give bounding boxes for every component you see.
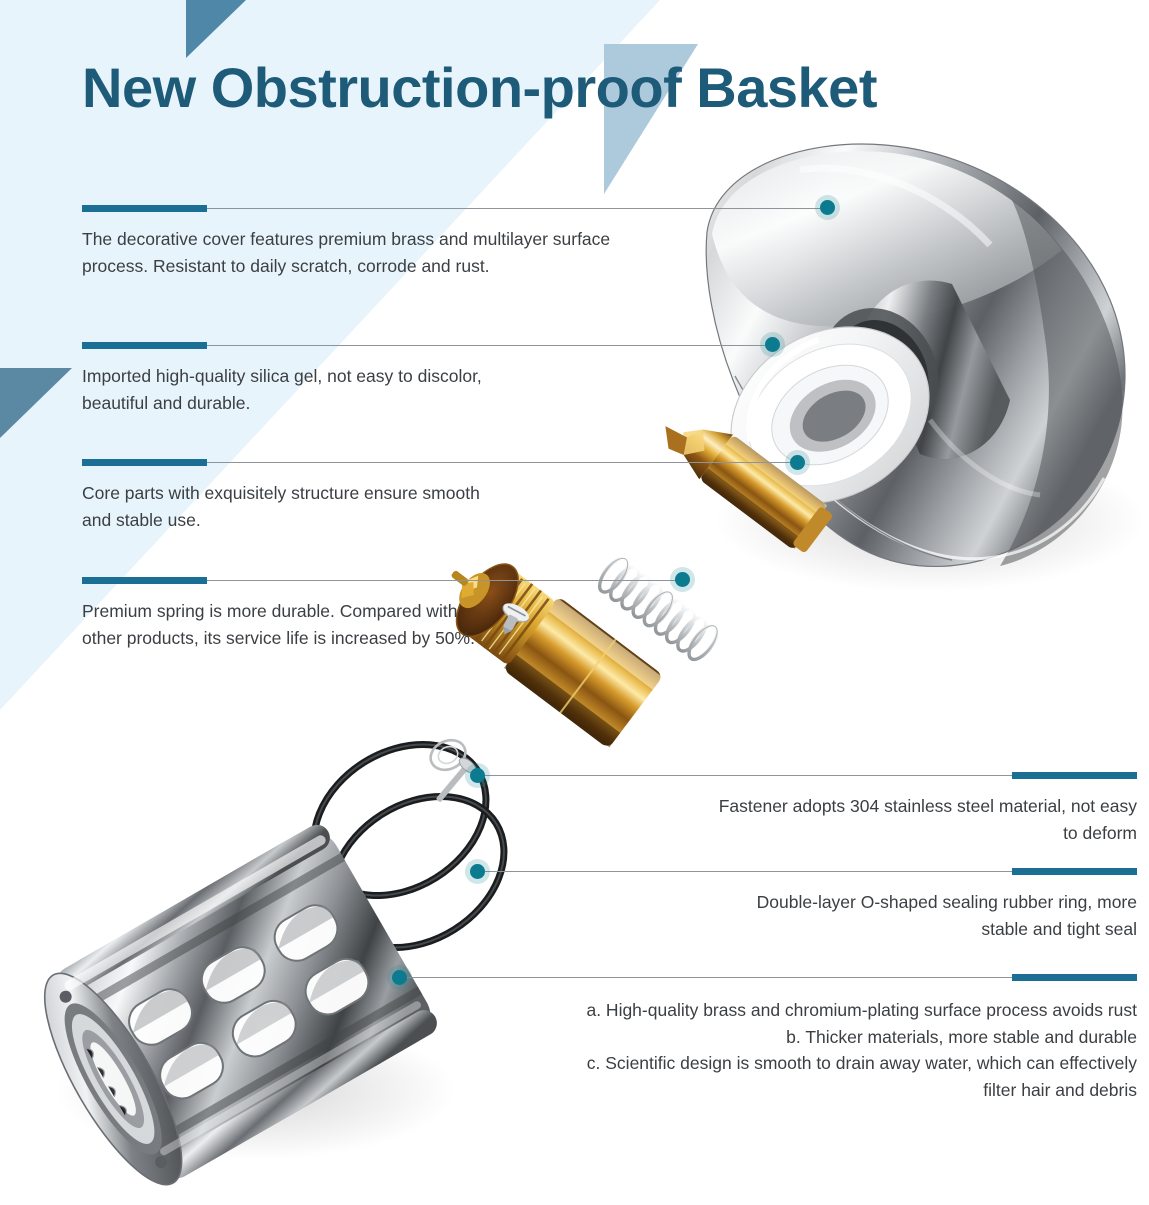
callout-accent-bar	[82, 577, 207, 584]
callout-dot-sealing-ring[interactable]	[470, 864, 485, 879]
callout-accent-bar	[1012, 772, 1137, 779]
callout-dot-decorative-cover[interactable]	[820, 200, 835, 215]
callout-text: Premium spring is more durable. Compared…	[82, 598, 502, 651]
callout-text: Imported high-quality silica gel, not ea…	[82, 363, 502, 416]
callout-text: Fastener adopts 304 stainless steel mate…	[717, 793, 1137, 846]
callout-text: Double-layer O-shaped sealing rubber rin…	[717, 889, 1137, 942]
callout-text: The decorative cover features premium br…	[82, 226, 662, 279]
page-title: New Obstruction-proof Basket	[82, 55, 877, 120]
callout-accent-bar	[82, 342, 207, 349]
callout-accent-bar	[82, 205, 207, 212]
callout-dot-core-parts[interactable]	[790, 455, 805, 470]
callout-accent-bar	[1012, 974, 1137, 981]
callout-dot-basket-body[interactable]	[392, 970, 407, 985]
callout-text: Core parts with exquisitely structure en…	[82, 480, 512, 533]
callout-text: a. High-quality brass and chromium-plati…	[577, 997, 1137, 1103]
callout-dot-silica-gel[interactable]	[765, 337, 780, 352]
callout-dot-premium-spring[interactable]	[675, 572, 690, 587]
callout-accent-bar	[82, 459, 207, 466]
decorative-triangle-left	[0, 368, 72, 438]
callout-dot-fastener[interactable]	[470, 768, 485, 783]
decorative-triangle-top	[186, 0, 246, 58]
callout-accent-bar	[1012, 868, 1137, 875]
